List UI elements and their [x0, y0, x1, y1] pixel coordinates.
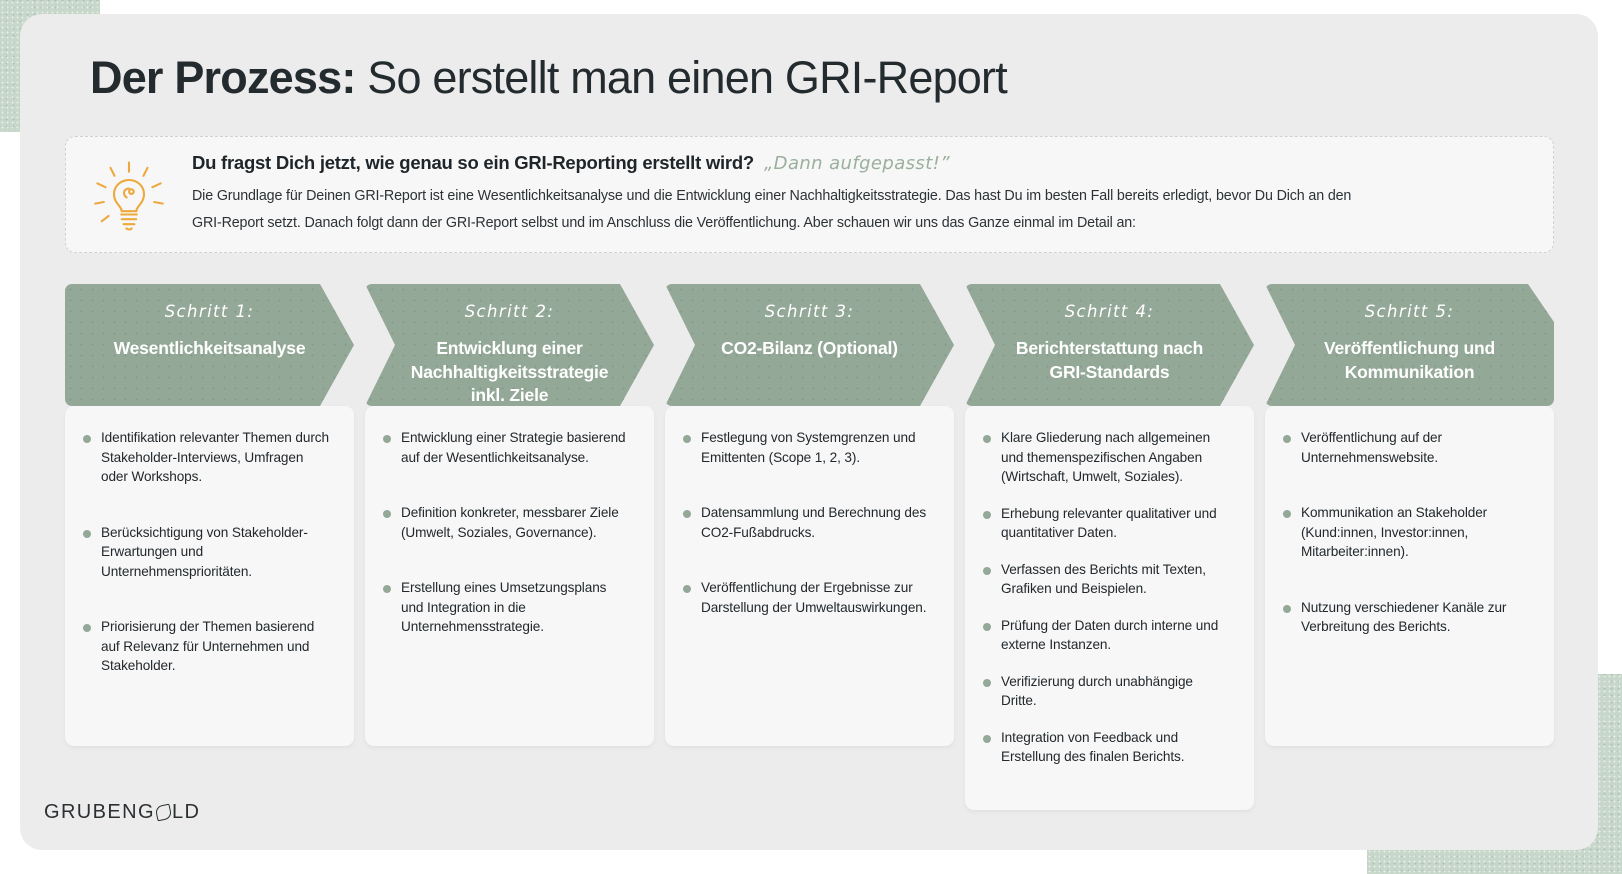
list-item-text: Kommunikation an Stakeholder (Kund:innen… [1301, 503, 1532, 562]
list-item-text: Veröffentlichung auf der Unternehmensweb… [1301, 428, 1532, 467]
step-header-4: Schritt 4: Berichterstattung nach GRI-St… [965, 284, 1254, 406]
step-header-5: Schritt 5: Veröffentlichung und Kommunik… [1265, 284, 1554, 406]
list-item: Veröffentlichung auf der Unternehmensweb… [1283, 428, 1532, 467]
bullet-dot-icon [383, 585, 391, 593]
callout-paragraph-line-1: Die Grundlage für Deinen GRI-Report ist … [192, 183, 1351, 210]
list-item-text: Verfassen des Berichts mit Texten, Grafi… [1001, 560, 1232, 599]
list-item-text: Verifizierung durch unabhängige Dritte. [1001, 672, 1232, 711]
list-item-text: Definition konkreter, messbarer Ziele (U… [401, 503, 632, 542]
step-title-1: Wesentlichkeitsanalyse [114, 337, 306, 361]
step-bullets-1: Identifikation relevanter Themen durch S… [65, 406, 354, 746]
list-item-text: Priorisierung der Themen basierend auf R… [101, 617, 332, 676]
step-label-3: Schritt 3: [765, 302, 855, 321]
list-item-text: Veröffentlichung der Ergebnisse zur Dars… [701, 578, 932, 617]
step-label-4: Schritt 4: [1065, 302, 1155, 321]
bullet-dot-icon [1283, 510, 1291, 518]
step-label-1: Schritt 1: [165, 302, 255, 321]
bullet-dot-icon [983, 735, 991, 743]
bullet-dot-icon [983, 679, 991, 687]
process-step-1: Schritt 1: Wesentlichkeitsanalyse Identi… [65, 284, 354, 810]
process-steps: Schritt 1: Wesentlichkeitsanalyse Identi… [65, 284, 1554, 810]
list-item: Prüfung der Daten durch interne und exte… [983, 616, 1232, 655]
list-item-text: Erstellung eines Umsetzungsplans und Int… [401, 578, 632, 637]
step-header-2: Schritt 2: Entwicklung einer Nachhaltigk… [365, 284, 654, 406]
list-item-text: Klare Gliederung nach allgemeinen und th… [1001, 428, 1232, 487]
logo-text-part-1: GRUBENG [44, 801, 155, 824]
list-item: Entwicklung einer Strategie basierend au… [383, 428, 632, 467]
list-item-text: Nutzung verschiedener Kanäle zur Verbrei… [1301, 598, 1532, 637]
bullet-dot-icon [683, 585, 691, 593]
step-label-5: Schritt 5: [1365, 302, 1455, 321]
intro-callout: Du fragst Dich jetzt, wie genau so ein G… [65, 136, 1554, 253]
list-item: Definition konkreter, messbarer Ziele (U… [383, 503, 632, 542]
list-item: Priorisierung der Themen basierend auf R… [83, 617, 332, 676]
list-item-text: Integration von Feedback und Erstellung … [1001, 728, 1232, 767]
list-item: Erstellung eines Umsetzungsplans und Int… [383, 578, 632, 637]
step-label-2: Schritt 2: [465, 302, 555, 321]
callout-heading-row: Du fragst Dich jetzt, wie genau so ein G… [192, 152, 1351, 174]
step-title-4: Berichterstattung nach GRI-Standards [999, 337, 1220, 384]
list-item: Nutzung verschiedener Kanäle zur Verbrei… [1283, 598, 1532, 637]
list-item: Erhebung relevanter qualitativer und qua… [983, 504, 1232, 543]
bullet-dot-icon [383, 435, 391, 443]
step-title-5: Veröffentlichung und Kommunikation [1299, 337, 1520, 384]
bullet-dot-icon [683, 510, 691, 518]
step-bullets-3: Festlegung von Systemgrenzen und Emitten… [665, 406, 954, 746]
list-item: Veröffentlichung der Ergebnisse zur Dars… [683, 578, 932, 617]
list-item: Kommunikation an Stakeholder (Kund:innen… [1283, 503, 1532, 562]
lightbulb-icon [66, 154, 192, 236]
list-item: Berücksichtigung von Stakeholder-Erwartu… [83, 523, 332, 582]
list-item: Integration von Feedback und Erstellung … [983, 728, 1232, 767]
callout-paragraph-line-2: GRI-Report setzt. Danach folgt dann der … [192, 210, 1351, 237]
page-title-rest: So erstellt man einen GRI-Report [356, 52, 1007, 103]
callout-question: Du fragst Dich jetzt, wie genau so ein G… [192, 152, 754, 174]
infographic-card: Der Prozess: So erstellt man einen GRI-R… [20, 14, 1598, 850]
step-header-1: Schritt 1: Wesentlichkeitsanalyse [65, 284, 354, 406]
step-bullets-2: Entwicklung einer Strategie basierend au… [365, 406, 654, 746]
page-title: Der Prozess: So erstellt man einen GRI-R… [90, 52, 1007, 104]
list-item: Verfassen des Berichts mit Texten, Grafi… [983, 560, 1232, 599]
list-item-text: Identifikation relevanter Themen durch S… [101, 428, 332, 487]
bullet-dot-icon [83, 530, 91, 538]
list-item: Datensammlung und Berechnung des CO2-Fuß… [683, 503, 932, 542]
bullet-dot-icon [1283, 435, 1291, 443]
bullet-dot-icon [983, 435, 991, 443]
bullet-dot-icon [1283, 605, 1291, 613]
step-title-3: CO2-Bilanz (Optional) [721, 337, 898, 361]
list-item-text: Festlegung von Systemgrenzen und Emitten… [701, 428, 932, 467]
list-item-text: Datensammlung und Berechnung des CO2-Fuß… [701, 503, 932, 542]
step-bullets-5: Veröffentlichung auf der Unternehmensweb… [1265, 406, 1554, 746]
page-title-strong: Der Prozess: [90, 52, 356, 103]
list-item: Festlegung von Systemgrenzen und Emitten… [683, 428, 932, 467]
list-item: Identifikation relevanter Themen durch S… [83, 428, 332, 487]
callout-handwritten-note: „Dann aufgepasst!” [764, 153, 950, 174]
list-item-text: Entwicklung einer Strategie basierend au… [401, 428, 632, 467]
brand-logo: GRUBENGLD [44, 801, 200, 824]
step-bullets-4: Klare Gliederung nach allgemeinen und th… [965, 406, 1254, 810]
bullet-dot-icon [983, 511, 991, 519]
bullet-dot-icon [83, 435, 91, 443]
step-header-3: Schritt 3: CO2-Bilanz (Optional) [665, 284, 954, 406]
process-step-5: Schritt 5: Veröffentlichung und Kommunik… [1265, 284, 1554, 810]
process-step-2: Schritt 2: Entwicklung einer Nachhaltigk… [365, 284, 654, 810]
list-item-text: Erhebung relevanter qualitativer und qua… [1001, 504, 1232, 543]
bullet-dot-icon [683, 435, 691, 443]
list-item-text: Prüfung der Daten durch interne und exte… [1001, 616, 1232, 655]
callout-body: Du fragst Dich jetzt, wie genau so ein G… [192, 152, 1377, 237]
logo-text-part-2: LD [172, 801, 200, 824]
process-step-4: Schritt 4: Berichterstattung nach GRI-St… [965, 284, 1254, 810]
list-item: Verifizierung durch unabhängige Dritte. [983, 672, 1232, 711]
bullet-dot-icon [983, 623, 991, 631]
list-item-text: Berücksichtigung von Stakeholder-Erwartu… [101, 523, 332, 582]
list-item: Klare Gliederung nach allgemeinen und th… [983, 428, 1232, 487]
step-title-2: Entwicklung einer Nachhaltigkeitsstrateg… [399, 337, 620, 408]
bullet-dot-icon [983, 567, 991, 575]
leaf-o-glyph-icon [155, 804, 173, 822]
bullet-dot-icon [83, 624, 91, 632]
bullet-dot-icon [383, 510, 391, 518]
process-step-3: Schritt 3: CO2-Bilanz (Optional) Festleg… [665, 284, 954, 810]
